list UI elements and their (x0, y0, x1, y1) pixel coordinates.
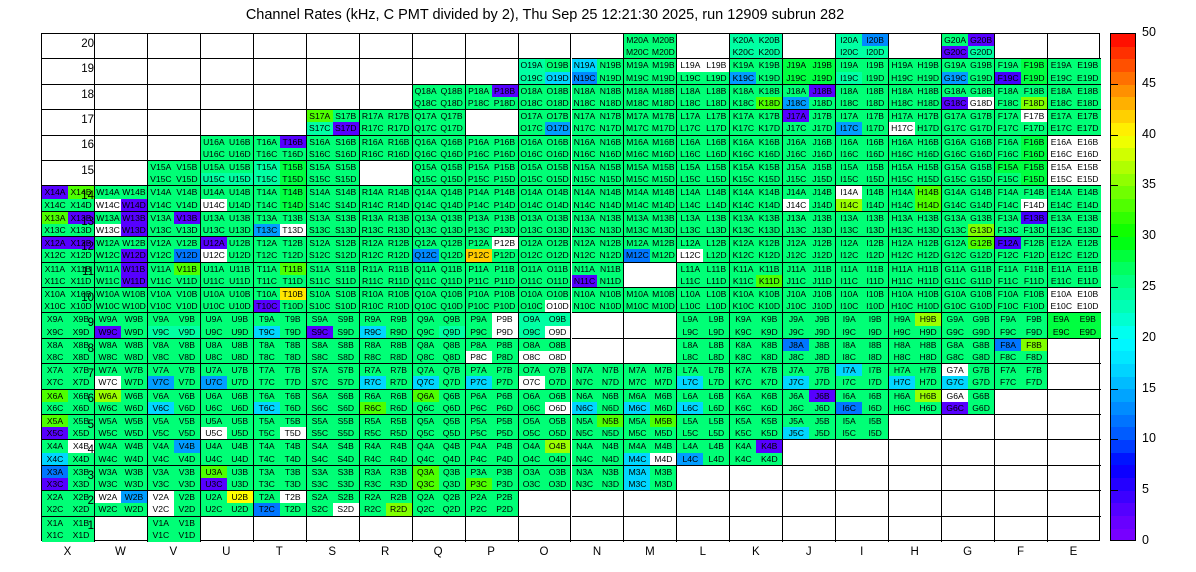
channel-cell: Q18B (439, 85, 465, 97)
channel-cell: F13C (995, 224, 1021, 236)
channel-cell: S11B (333, 263, 359, 275)
grid-cell: V10AV10BV10CV10D (148, 288, 201, 313)
channel-cell: V2C (148, 503, 174, 515)
grid-cell: G17AG17BG17CG17D (942, 110, 995, 135)
channel-cell: G9D (968, 326, 994, 338)
channel-cell: K19C (730, 72, 756, 84)
channel-cell: Q11B (439, 263, 465, 275)
channel-cell: K10D (756, 300, 782, 312)
channel-cell: G14A (942, 186, 968, 198)
channel-cell: O19D (545, 72, 571, 84)
grid-cell: P4AP4BP4CP4D (466, 440, 519, 465)
channel-cell: P4C (466, 453, 492, 465)
channel-cell: N18C (572, 97, 598, 109)
grid-cell: G10AG10BG10CG10D (942, 288, 995, 313)
x-axis-label: Q (418, 546, 458, 558)
channel-cell: J9D (809, 326, 835, 338)
channel-cell: T12D (280, 249, 306, 261)
channel-cell: L10D (703, 300, 729, 312)
channel-cell: U16B (227, 136, 253, 148)
channel-cell: Q7D (439, 376, 465, 388)
grid-cell: N3AN3BN3CN3D (572, 466, 625, 491)
grid-cell (360, 59, 413, 84)
channel-cell: L7A (677, 364, 703, 376)
grid-cell: N18AN18BN18CN18D (572, 85, 625, 110)
channel-cell: I8D (862, 351, 888, 363)
grid-cell: I18AI18BI18CI18D (836, 85, 889, 110)
channel-cell: V13B (174, 212, 200, 224)
channel-cell: V14A (148, 186, 174, 198)
grid-cell (95, 34, 148, 59)
channel-cell: K9A (730, 313, 756, 325)
grid-cell: W9AW9BW9CW9D (95, 313, 148, 338)
channel-cell: M14C (624, 199, 650, 211)
channel-cell: R3B (386, 466, 412, 478)
channel-cell: F14C (995, 199, 1021, 211)
grid-cell (889, 466, 942, 491)
channel-cell: W11A (95, 263, 121, 275)
grid-cell: S3AS3BS3CS3D (307, 466, 360, 491)
channel-cell: V13C (148, 224, 174, 236)
grid-cell: I5AI5BI5CI5D (836, 415, 889, 440)
channel-cell: Q12C (413, 249, 439, 261)
grid-cell: O12AO12BO12CO12D (519, 237, 572, 262)
channel-cell: W7A (95, 364, 121, 376)
channel-cell: I11D (862, 275, 888, 287)
channel-cell: L8C (677, 351, 703, 363)
channel-cell: Q13D (439, 224, 465, 236)
y-axis-label: 20 (66, 38, 94, 50)
grid-cell: U9AU9BU9CU9D (201, 313, 254, 338)
grid-cell: N6AN6BN6CN6D (572, 390, 625, 415)
channel-cell: Q7A (413, 364, 439, 376)
channel-cell: F12A (995, 237, 1021, 249)
channel-cell: F7C (995, 376, 1021, 388)
grid-cell (95, 136, 148, 161)
channel-cell: J19C (783, 72, 809, 84)
channel-cell: K15A (730, 161, 756, 173)
grid-cell: L18AL18BL18CL18D (677, 85, 730, 110)
grid-cell (889, 440, 942, 465)
y-axis-label: 19 (66, 63, 94, 75)
channel-cell: V11B (174, 263, 200, 275)
channel-cell: N11B (597, 263, 623, 275)
channel-cell: O17A (519, 110, 545, 122)
channel-cell: O18A (519, 85, 545, 97)
channel-cell: S5D (333, 427, 359, 439)
channel-cell: S5A (307, 415, 333, 427)
channel-cell: R16A (360, 136, 386, 148)
grid-cell (254, 59, 307, 84)
channel-cell: Q10C (413, 300, 439, 312)
grid-cell: U13AU13BU13CU13D (201, 212, 254, 237)
channel-cell: T9C (254, 326, 280, 338)
grid-cell: U3AU3BU3CU3D (201, 466, 254, 491)
grid-cell: O5AO5BO5CO5D (519, 415, 572, 440)
channel-cell: X11A (42, 263, 68, 275)
channel-cell: I7A (836, 364, 862, 376)
channel-cell: W9C (95, 326, 121, 338)
channel-cell: H8D (915, 351, 941, 363)
channel-cell: M5A (624, 415, 650, 427)
channel-cell: M3B (650, 466, 676, 478)
colorbar-band (1111, 199, 1135, 212)
colorbar-band (1111, 427, 1135, 440)
grid-cell: L10AL10BL10CL10D (677, 288, 730, 313)
channel-cell: U9B (227, 313, 253, 325)
channel-cell: S5C (307, 427, 333, 439)
grid-cell (413, 59, 466, 84)
channel-cell: U2C (201, 503, 227, 515)
channel-cell: I8C (836, 351, 862, 363)
channel-cell: L12A (677, 237, 703, 249)
channel-cell: U4B (227, 440, 253, 452)
channel-cell: H18C (889, 97, 915, 109)
channel-cell: N6B (597, 390, 623, 402)
grid-cell: W14AW14BW14CW14D (95, 186, 148, 211)
channel-cell: F13D (1021, 224, 1047, 236)
channel-cell: H6D (915, 402, 941, 414)
channel-cell: I18C (836, 97, 862, 109)
grid-cell (1048, 517, 1101, 542)
grid-cell: Q2AQ2BQ2CQ2D (413, 491, 466, 516)
channel-cell: O7B (545, 364, 571, 376)
channel-cell: E11D (1075, 275, 1101, 287)
channel-cell: P2B (492, 491, 518, 503)
channel-cell: G15B (968, 161, 994, 173)
channel-cell: M18C (624, 97, 650, 109)
channel-cell: O19A (519, 59, 545, 71)
channel-cell: S7B (333, 364, 359, 376)
channel-cell: Q3A (413, 466, 439, 478)
channel-cell: M19A (624, 59, 650, 71)
colorbar-band (1111, 110, 1135, 123)
channel-cell: P6A (466, 390, 492, 402)
grid-cell (995, 415, 1048, 440)
channel-cell: K8B (756, 339, 782, 351)
grid-cell: F10AF10BF10CF10D (995, 288, 1048, 313)
channel-cell: V2A (148, 491, 174, 503)
channel-cell: M4B (650, 440, 676, 452)
channel-cell: I18A (836, 85, 862, 97)
channel-cell: H10A (889, 288, 915, 300)
channel-cell: X13A (42, 212, 68, 224)
channel-cell: U2B (227, 491, 253, 503)
channel-cell: G18C (942, 97, 968, 109)
channel-cell: P16C (466, 148, 492, 160)
channel-cell: J5B (809, 415, 835, 427)
channel-cell: L5A (677, 415, 703, 427)
colorbar-band (1111, 148, 1135, 161)
channel-cell: R14D (386, 199, 412, 211)
colorbar-band (1111, 415, 1135, 428)
grid-cell: O9AO9BO9CO9D (519, 313, 572, 338)
channel-cell: Q12B (439, 237, 465, 249)
channel-cell: U3D (227, 478, 253, 490)
channel-cell: V14B (174, 186, 200, 198)
grid-cell: Q9AQ9BQ9CQ9D (413, 313, 466, 338)
channel-cell: J6B (809, 390, 835, 402)
channel-cell: U15A (201, 161, 227, 173)
grid-cell: H9AH9BH9CH9D (889, 313, 942, 338)
grid-cell: F7AF7BF7CF7D (995, 364, 1048, 389)
y-axis-label: 10 (66, 292, 94, 304)
grid-cell: P9AP9BP9CP9D (466, 313, 519, 338)
channel-cell: F14A (995, 186, 1021, 198)
channel-cell: M4A (624, 440, 650, 452)
channel-cell: Q3B (439, 466, 465, 478)
grid-cell: F19AF19BF19CF19D (995, 59, 1048, 84)
channel-cell: F9A (995, 313, 1021, 325)
channel-cell: O15C (519, 173, 545, 185)
channel-cell: F12B (1021, 237, 1047, 249)
channel-cell: G19D (968, 72, 994, 84)
grid-cell (95, 59, 148, 84)
grid-cell: Q16AQ16BQ16CQ16D (413, 136, 466, 161)
channel-cell: W11C (95, 275, 121, 287)
channel-cell: L6C (677, 402, 703, 414)
channel-cell: W2A (95, 491, 121, 503)
channel-cell: Q16D (439, 148, 465, 160)
colorbar-band (1111, 339, 1135, 352)
channel-cell: X3C (42, 478, 68, 490)
channel-cell: R12B (386, 237, 412, 249)
channel-cell: J7B (809, 364, 835, 376)
grid-cell: E11AE11BE11CE11D (1048, 263, 1101, 288)
grid-cell: V15AV15BV15CV15D (148, 161, 201, 186)
channel-cell: K6A (730, 390, 756, 402)
channel-cell: H18A (889, 85, 915, 97)
channel-cell: F18B (1021, 85, 1047, 97)
channel-cell: U9D (227, 326, 253, 338)
channel-cell: E12A (1048, 237, 1074, 249)
channel-cell: T12C (254, 249, 280, 261)
channel-cell: V8A (148, 339, 174, 351)
channel-cell: V5B (174, 415, 200, 427)
channel-cell: S2B (333, 491, 359, 503)
channel-cell: H7B (915, 364, 941, 376)
channel-cell: U10D (227, 300, 253, 312)
channel-cell: S9B (333, 313, 359, 325)
channel-cell: V7D (174, 376, 200, 388)
grid-cell: G19AG19BG19CG19D (942, 59, 995, 84)
grid-cell: V2AV2BV2CV2D (148, 491, 201, 516)
channel-cell: O8D (545, 351, 571, 363)
grid-cell: F16AF16BF16CF16D (995, 136, 1048, 161)
grid-cell: F12AF12BF12CF12D (995, 237, 1048, 262)
grid-cell (1048, 364, 1101, 389)
channel-cell: Q6A (413, 390, 439, 402)
channel-cell: G20C (942, 46, 968, 58)
channel-cell: I18D (862, 97, 888, 109)
x-axis-label: P (471, 546, 511, 558)
grid-cell: L14AL14BL14CL14D (677, 186, 730, 211)
grid-cell: P15AP15BP15CP15D (466, 161, 519, 186)
channel-cell: K20B (756, 34, 782, 46)
grid-cell: F8AF8BF8CF8D (995, 339, 1048, 364)
channel-cell: U8B (227, 339, 253, 351)
channel-cell: G7A (942, 364, 968, 376)
channel-cell: N7D (597, 376, 623, 388)
channel-cell: O14B (545, 186, 571, 198)
channel-cell: N19D (597, 72, 623, 84)
grid-cell: K19AK19BK19CK19D (730, 59, 783, 84)
channel-cell: E18B (1075, 85, 1101, 97)
channel-cell: T10C (254, 300, 280, 312)
channel-cell: G8B (968, 339, 994, 351)
channel-cell: T14C (254, 199, 280, 211)
channel-cell: P9A (466, 313, 492, 325)
channel-cell: G8C (942, 351, 968, 363)
channel-cell: R5B (386, 415, 412, 427)
channel-cell: P10B (492, 288, 518, 300)
channel-cell: R4A (360, 440, 386, 452)
channel-cell: M12B (650, 237, 676, 249)
grid-cell: K9AK9BK9CK9D (730, 313, 783, 338)
channel-cell: H14D (915, 199, 941, 211)
channel-cell: S10B (333, 288, 359, 300)
channel-cell: Q5A (413, 415, 439, 427)
grid-cell (201, 59, 254, 84)
channel-cell: M20A (624, 34, 650, 46)
channel-cell: U10A (201, 288, 227, 300)
channel-cell: J7D (809, 376, 835, 388)
channel-cell: Q5D (439, 427, 465, 439)
grid-cell (519, 34, 572, 59)
channel-cell: H10C (889, 300, 915, 312)
channel-cell: P5A (466, 415, 492, 427)
channel-cell: F9C (995, 326, 1021, 338)
channel-cell: H10B (915, 288, 941, 300)
channel-cell: P5C (466, 427, 492, 439)
grid-cell: K7AK7BK7CK7D (730, 364, 783, 389)
grid-cell (783, 466, 836, 491)
colorbar-tick-label: 35 (1142, 177, 1156, 191)
channel-cell: E15C (1048, 173, 1074, 185)
channel-cell: I16C (836, 148, 862, 160)
channel-cell: U6C (201, 402, 227, 414)
channel-cell: K11B (756, 263, 782, 275)
channel-cell: T5B (280, 415, 306, 427)
grid-cell: O17AO17BO17CO17D (519, 110, 572, 135)
channel-cell: T8C (254, 351, 280, 363)
channel-cell: J9B (809, 313, 835, 325)
channel-cell: K6D (756, 402, 782, 414)
channel-cell: H15A (889, 161, 915, 173)
channel-cell: Q15A (413, 161, 439, 173)
x-axis-label: K (736, 546, 776, 558)
channel-cell: U16A (201, 136, 227, 148)
grid-cell (1048, 415, 1101, 440)
channel-cell: E10D (1075, 300, 1101, 312)
y-axis-label: 16 (66, 139, 94, 151)
channel-cell: S4B (333, 440, 359, 452)
grid-cell: S9AS9BS9CS9D (307, 313, 360, 338)
channel-cell: O13C (519, 224, 545, 236)
channel-cell: J10D (809, 300, 835, 312)
channel-cell: R17B (386, 110, 412, 122)
grid-cell: U15AU15BU15CU15D (201, 161, 254, 186)
grid-cell: M16AM16BM16CM16D (624, 136, 677, 161)
channel-cell: W11B (121, 263, 147, 275)
grid-cell: L12AL12BL12CL12D (677, 237, 730, 262)
grid-cell: U6AU6BU6CU6D (201, 390, 254, 415)
channel-cell: S11C (307, 275, 333, 287)
channel-cell: V8D (174, 351, 200, 363)
channel-cell: V9A (148, 313, 174, 325)
channel-cell: R9B (386, 313, 412, 325)
grid-cell: W7AW7BW7CW7D (95, 364, 148, 389)
channel-cell: H17B (915, 110, 941, 122)
channel-cell: L7D (703, 376, 729, 388)
channel-cell: R6C (360, 402, 386, 414)
channel-cell: J10A (783, 288, 809, 300)
channel-cell: J18C (783, 97, 809, 109)
grid-cell: I17AI17BI17CI17D (836, 110, 889, 135)
grid-cell: P11AP11BP11CP11D (466, 263, 519, 288)
channel-cell: F11A (995, 263, 1021, 275)
channel-cell: F12C (995, 249, 1021, 261)
channel-cell: S8B (333, 339, 359, 351)
channel-cell: H8B (915, 339, 941, 351)
channel-cell: G6C (942, 402, 968, 414)
grid-cell: M20AM20BM20CM20D (624, 34, 677, 59)
channel-cell: L17D (703, 122, 729, 134)
channel-cell: R13D (386, 224, 412, 236)
channel-cell: Q18A (413, 85, 439, 97)
channel-cell: U7B (227, 364, 253, 376)
channel-cell: P16B (492, 136, 518, 148)
grid-cell: T9AT9BT9CT9D (254, 313, 307, 338)
channel-cell: V1B (174, 517, 200, 530)
grid-cell (677, 466, 730, 491)
channel-cell: U10B (227, 288, 253, 300)
x-axis-label: V (153, 546, 193, 558)
channel-cell: T2B (280, 491, 306, 503)
channel-cell: Q14D (439, 199, 465, 211)
channel-cell: M18D (650, 97, 676, 109)
channel-cell: I20B (862, 34, 888, 46)
channel-cell: R10A (360, 288, 386, 300)
channel-cell: W3B (121, 466, 147, 478)
channel-cell: L10B (703, 288, 729, 300)
channel-cell: X8A (42, 339, 68, 351)
channel-cell: T6A (254, 390, 280, 402)
channel-cell: O6A (519, 390, 545, 402)
channel-cell: F8B (1021, 339, 1047, 351)
grid-cell (942, 517, 995, 542)
channel-cell: J13D (809, 224, 835, 236)
channel-cell: U8A (201, 339, 227, 351)
channel-cell: M14B (650, 186, 676, 198)
channel-cell: L11B (703, 263, 729, 275)
channel-cell: K12A (730, 237, 756, 249)
channel-cell: G15C (942, 173, 968, 185)
channel-cell: T13A (254, 212, 280, 224)
grid-cell: K14AK14BK14CK14D (730, 186, 783, 211)
channel-cell: R10B (386, 288, 412, 300)
channel-cell: O12A (519, 237, 545, 249)
channel-cell: K17A (730, 110, 756, 122)
grid-cell: T14AT14BT14CT14D (254, 186, 307, 211)
channel-cell: P2D (492, 503, 518, 515)
channel-cell: M5C (624, 427, 650, 439)
channel-cell: F18A (995, 85, 1021, 97)
channel-cell: N17B (597, 110, 623, 122)
channel-cell: N18B (597, 85, 623, 97)
grid-cell: T4AT4BT4CT4D (254, 440, 307, 465)
channel-cell: V2D (174, 503, 200, 515)
